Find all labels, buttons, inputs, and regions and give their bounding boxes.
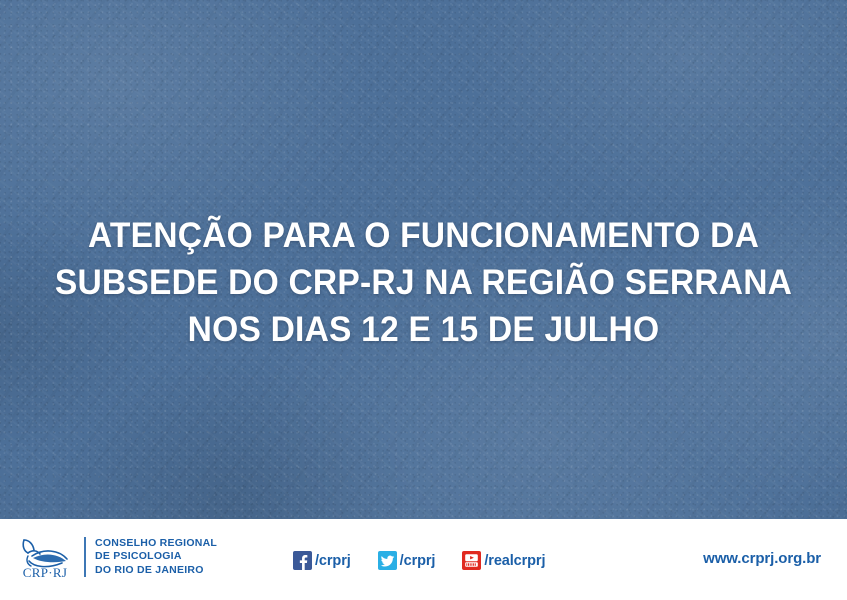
social-link-facebook[interactable]: /crprj [293,551,351,570]
headline-line-3: NOS DIAS 12 E 15 DE JULHO [17,306,830,353]
facebook-handle[interactable]: /crprj [315,553,351,569]
crp-rj-bird-logo-icon: CRP·RJ [14,534,76,580]
facebook-icon[interactable] [293,551,312,570]
twitter-icon[interactable] [378,551,397,570]
crp-rj-announcement-banner: ATENÇÃO PARA O FUNCIONAMENTO DA SUBSEDE … [0,0,847,600]
social-link-twitter[interactable]: /crprj [378,551,436,570]
logo-divider [84,537,86,577]
youtube-handle[interactable]: /realcrprj [484,553,545,569]
logo-wordmark-line-3: DO RIO DE JANEIRO [95,564,217,578]
headline: ATENÇÃO PARA O FUNCIONAMENTO DA SUBSEDE … [17,212,830,353]
website-url[interactable]: www.crprj.org.br [703,550,821,567]
social-links: /crprj /crprj [293,551,545,570]
logo-wordmark: CONSELHO REGIONAL DE PSICOLOGIA DO RIO D… [95,537,217,578]
headline-line-2: SUBSEDE DO CRP-RJ NA REGIÃO SERRANA [17,259,830,306]
headline-line-1: ATENÇÃO PARA O FUNCIONAMENTO DA [17,212,830,259]
youtube-icon[interactable] [462,551,481,570]
logo-wordmark-line-1: CONSELHO REGIONAL [95,537,217,551]
social-link-youtube[interactable]: /realcrprj [462,551,545,570]
svg-text:CRP·RJ: CRP·RJ [23,565,67,580]
twitter-handle[interactable]: /crprj [400,553,436,569]
logo-wordmark-line-2: DE PSICOLOGIA [95,550,217,564]
crp-rj-logo-lockup[interactable]: CRP·RJ CONSELHO REGIONAL DE PSICOLOGIA D… [14,534,217,580]
